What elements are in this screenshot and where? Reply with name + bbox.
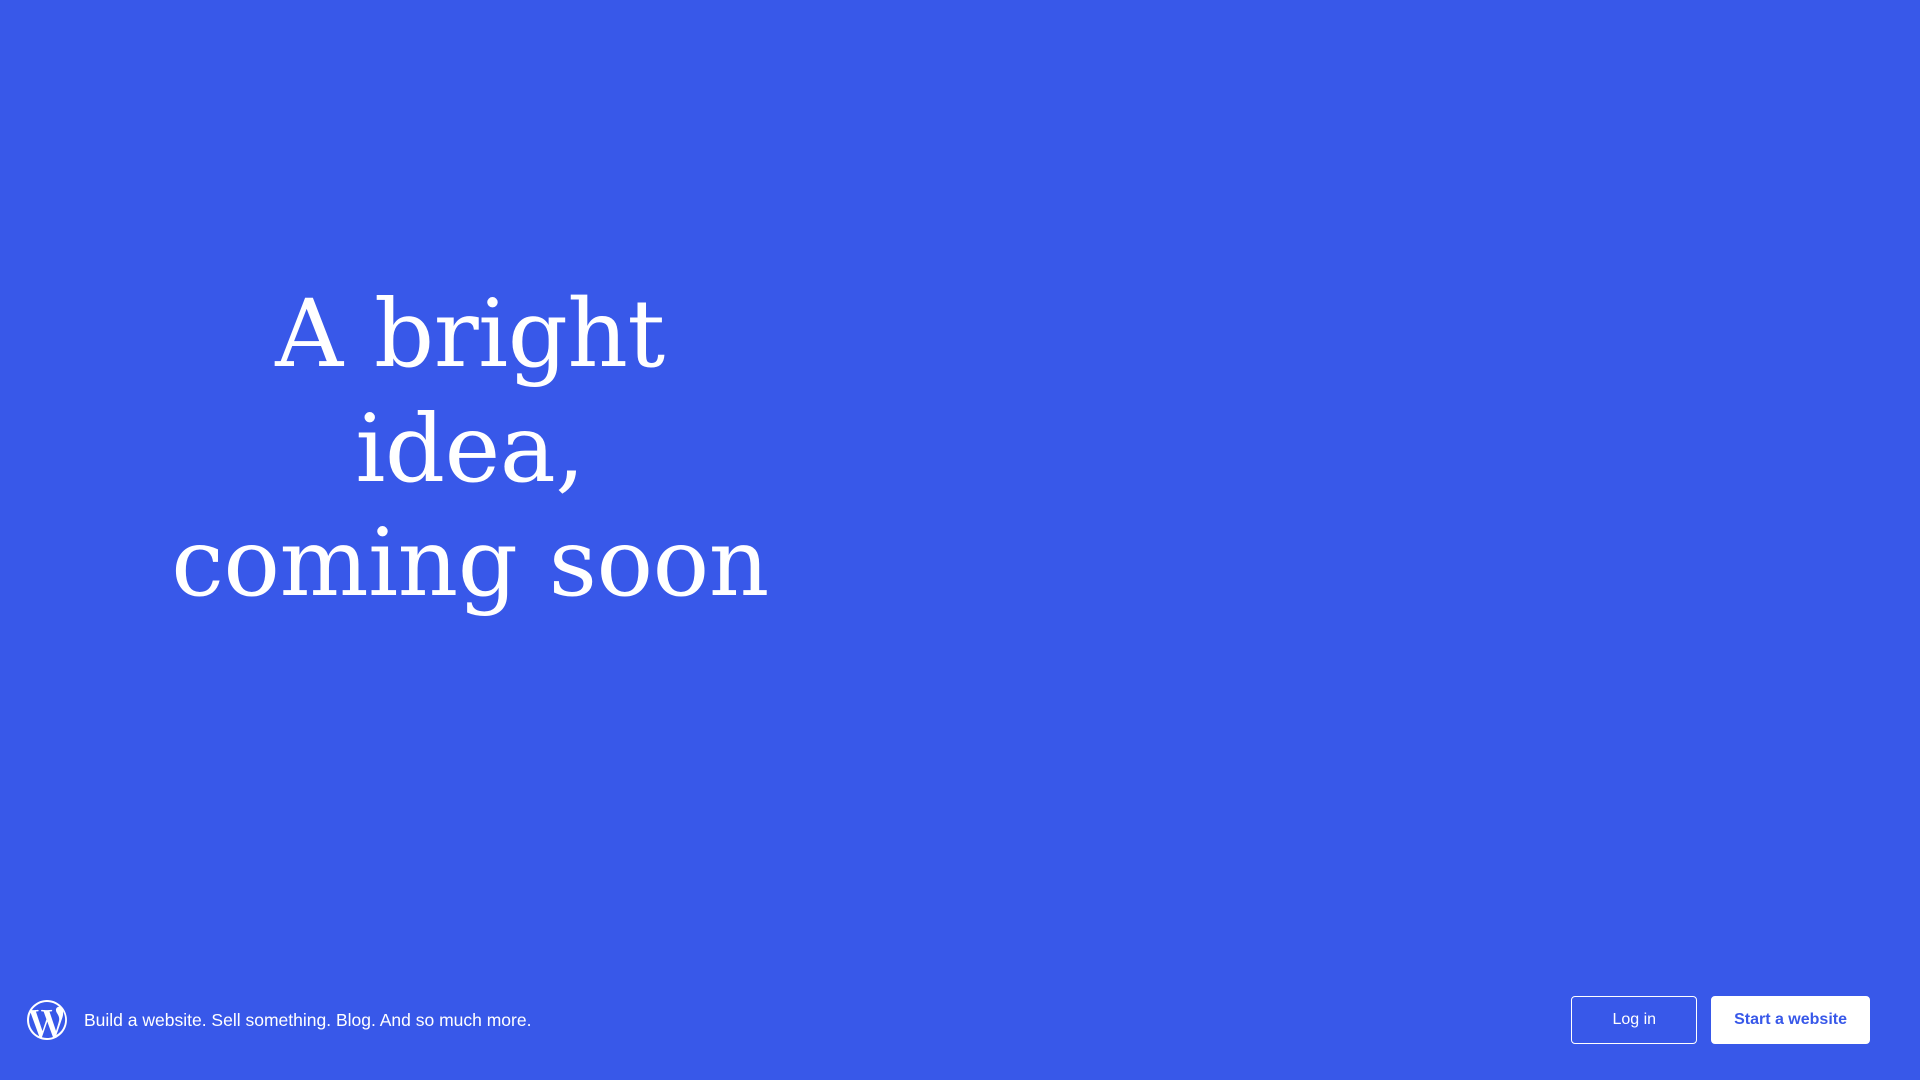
wordpress-logo-icon[interactable] bbox=[27, 1000, 67, 1040]
footer-bar: Build a website. Sell something. Blog. A… bbox=[0, 960, 1920, 1080]
footer-branding: Build a website. Sell something. Blog. A… bbox=[27, 1000, 1571, 1040]
log-in-button[interactable]: Log in bbox=[1571, 996, 1697, 1044]
page-title: A bright idea, coming soon bbox=[160, 278, 780, 622]
start-a-website-button[interactable]: Start a website bbox=[1711, 996, 1870, 1044]
hero-section: A bright idea, coming soon bbox=[0, 0, 1920, 960]
footer-tagline: Build a website. Sell something. Blog. A… bbox=[84, 1009, 531, 1032]
footer-actions: Log in Start a website bbox=[1571, 996, 1870, 1044]
page-title-line-2: coming soon bbox=[171, 509, 769, 618]
page-title-line-1: A bright idea, bbox=[275, 280, 664, 504]
hero-content: A bright idea, coming soon bbox=[0, 0, 940, 960]
coming-soon-page: A bright idea, coming soon Build a websi… bbox=[0, 0, 1920, 1080]
